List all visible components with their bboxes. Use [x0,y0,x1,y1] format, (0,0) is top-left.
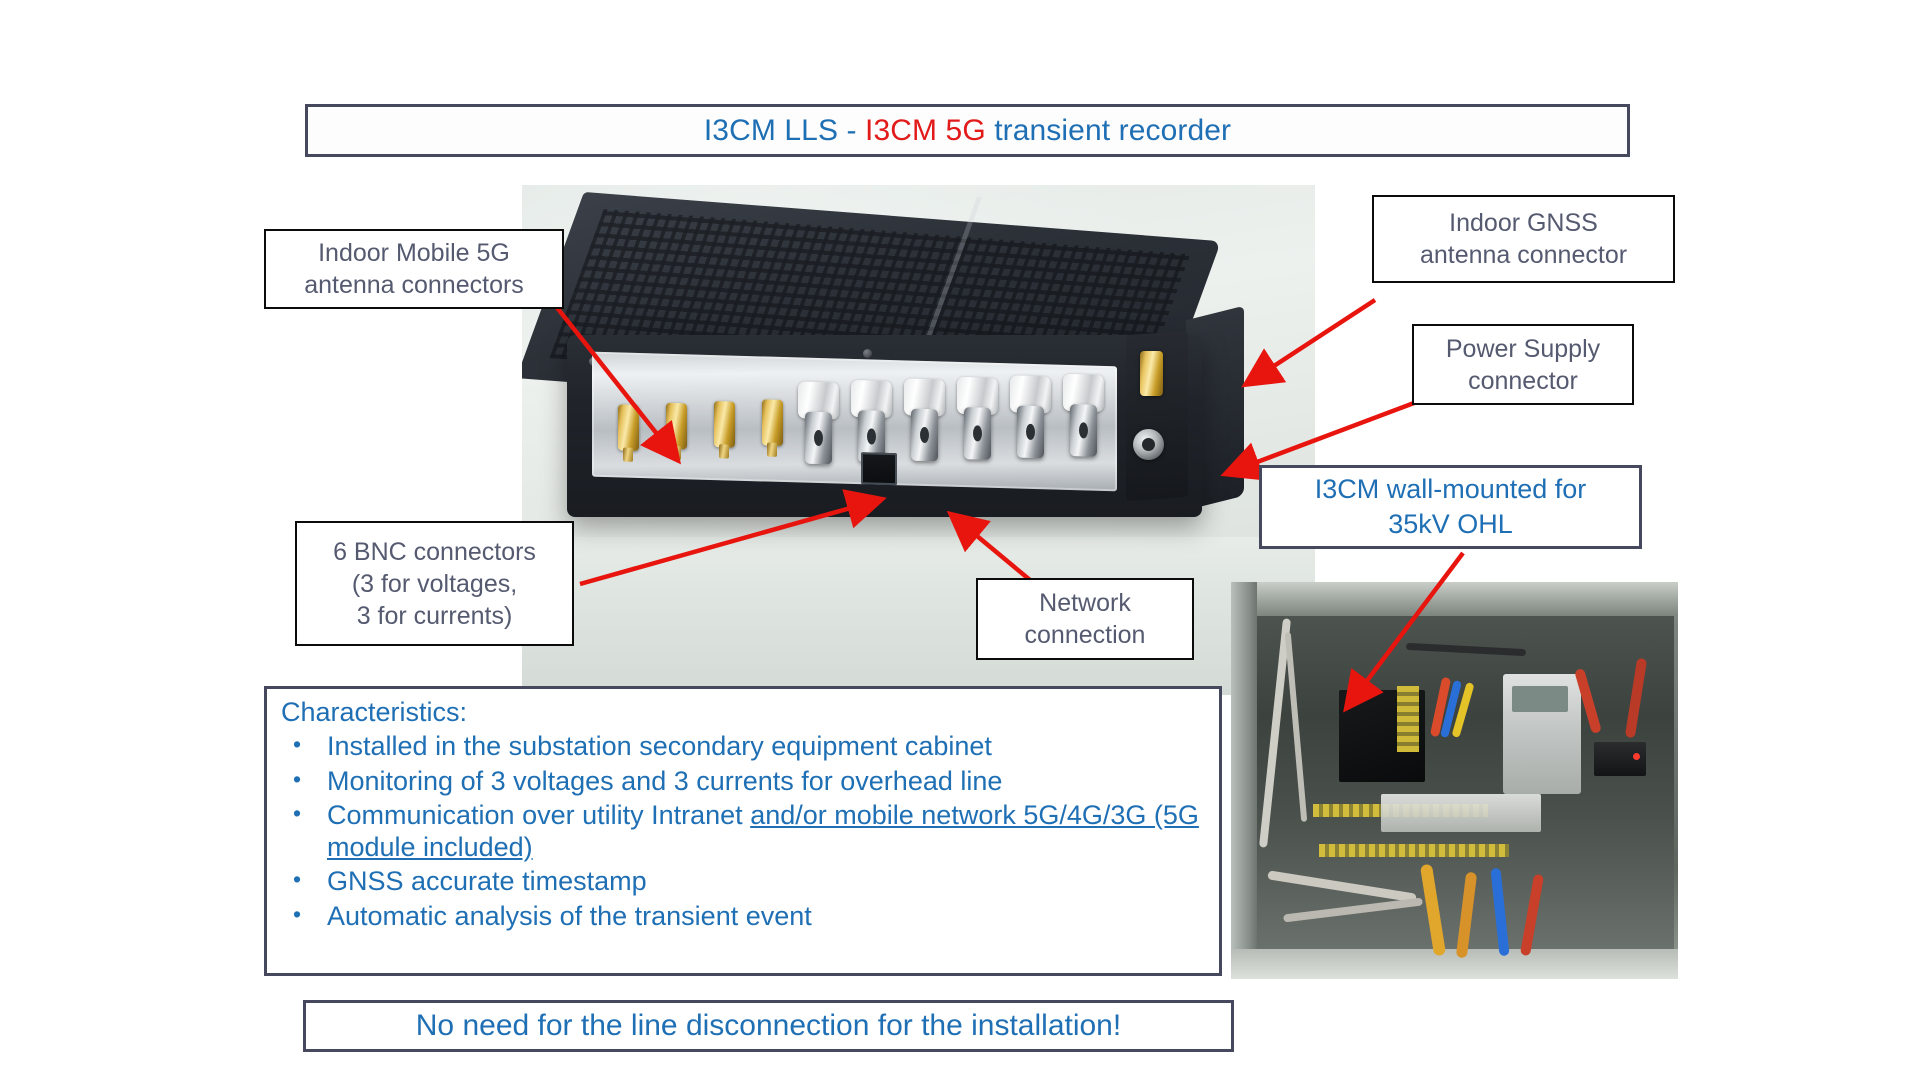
bnc-connector-1 [798,381,839,468]
gnss-antenna-connector-port [1140,351,1163,396]
callout-power-supply: Power Supply connector [1412,324,1634,405]
list-item: • Monitoring of 3 voltages and 3 current… [281,766,1205,798]
list-item-text: Installed in the substation secondary eq… [327,731,1205,763]
slide-title-banner: I3CM LLS - I3CM 5G transient recorder [305,104,1630,157]
photo-desk-surface [522,537,1315,695]
bullet-icon: • [281,901,327,933]
callout-line: 35kV OHL [1388,507,1513,542]
list-item: • Communication over utility Intranet an… [281,800,1205,863]
callout-bnc-connectors: 6 BNC connectors (3 for voltages, 3 for … [295,521,574,646]
callout-line: connector [1468,365,1578,397]
callout-line: antenna connector [1420,239,1627,271]
callout-line: (3 for voltages, [352,568,517,600]
callout-wall-mounted: I3CM wall-mounted for 35kV OHL [1259,465,1642,549]
page-title: I3CM LLS - I3CM 5G transient recorder [704,114,1231,148]
characteristics-heading: Characteristics: [281,697,1205,728]
callout-line: 6 BNC connectors [333,536,536,568]
title-part-lls: I3CM LLS - [704,114,865,147]
callout-line: I3CM wall-mounted for [1315,472,1587,507]
substation-cabinet-photo [1231,582,1678,979]
sma-connector-3 [714,401,735,448]
callout-line: Indoor Mobile 5G [318,237,510,269]
connector-panel [592,352,1117,492]
callout-indoor-mobile-5g: Indoor Mobile 5G antenna connectors [264,229,564,309]
bullet-icon: • [281,766,327,798]
title-part-recorder: transient recorder [986,114,1231,147]
bullet-icon: • [281,866,327,898]
characteristics-panel: Characteristics: • Installed in the subs… [264,686,1222,976]
list-item-text: Automatic analysis of the transient even… [327,901,1205,933]
list-item: • Installed in the substation secondary … [281,731,1205,763]
callout-indoor-gnss: Indoor GNSS antenna connector [1372,195,1675,283]
bnc-connector-6 [1063,374,1104,461]
cabinet-relay-module [1594,742,1646,776]
callout-line: 3 for currents) [357,600,513,632]
bnc-connector-5 [1010,375,1051,462]
slide-canvas: I3CM LLS - I3CM 5G transient recorder In… [0,0,1920,1080]
power-supply-connector-port [1133,429,1164,460]
sma-connector-1 [618,404,639,451]
callout-line: Network [1039,587,1131,619]
sma-connector-4 [762,399,783,446]
panel-screw [863,349,872,358]
characteristics-list: • Installed in the substation secondary … [281,731,1205,932]
list-item-text: GNSS accurate timestamp [327,866,1205,898]
i3cm-recorder-rear-panel-photo [522,185,1315,695]
bottom-banner: No need for the line disconnection for t… [303,1000,1234,1052]
cabinet-energy-meter [1503,674,1581,794]
list-item-text: Communication over utility Intranet and/… [327,800,1205,863]
list-item-text: Monitoring of 3 voltages and 3 currents … [327,766,1205,798]
callout-network-connection: Network connection [976,578,1194,660]
sma-connector-2 [666,403,687,450]
callout-line: Indoor GNSS [1449,207,1598,239]
list-item: • Automatic analysis of the transient ev… [281,901,1205,933]
list-item-text-plain: Communication over utility Intranet [327,800,750,830]
list-item: • GNSS accurate timestamp [281,866,1205,898]
bullet-icon: • [281,800,327,863]
callout-line: Power Supply [1446,333,1600,365]
bottom-banner-text: No need for the line disconnection for t… [416,1009,1121,1043]
callout-line: connection [1025,619,1146,651]
callout-line: antenna connectors [304,269,524,301]
bnc-connector-3 [904,378,945,465]
bullet-icon: • [281,731,327,763]
rj45-network-jack [861,452,897,485]
title-part-5g: I3CM 5G [865,114,986,147]
bnc-connector-4 [957,377,998,464]
